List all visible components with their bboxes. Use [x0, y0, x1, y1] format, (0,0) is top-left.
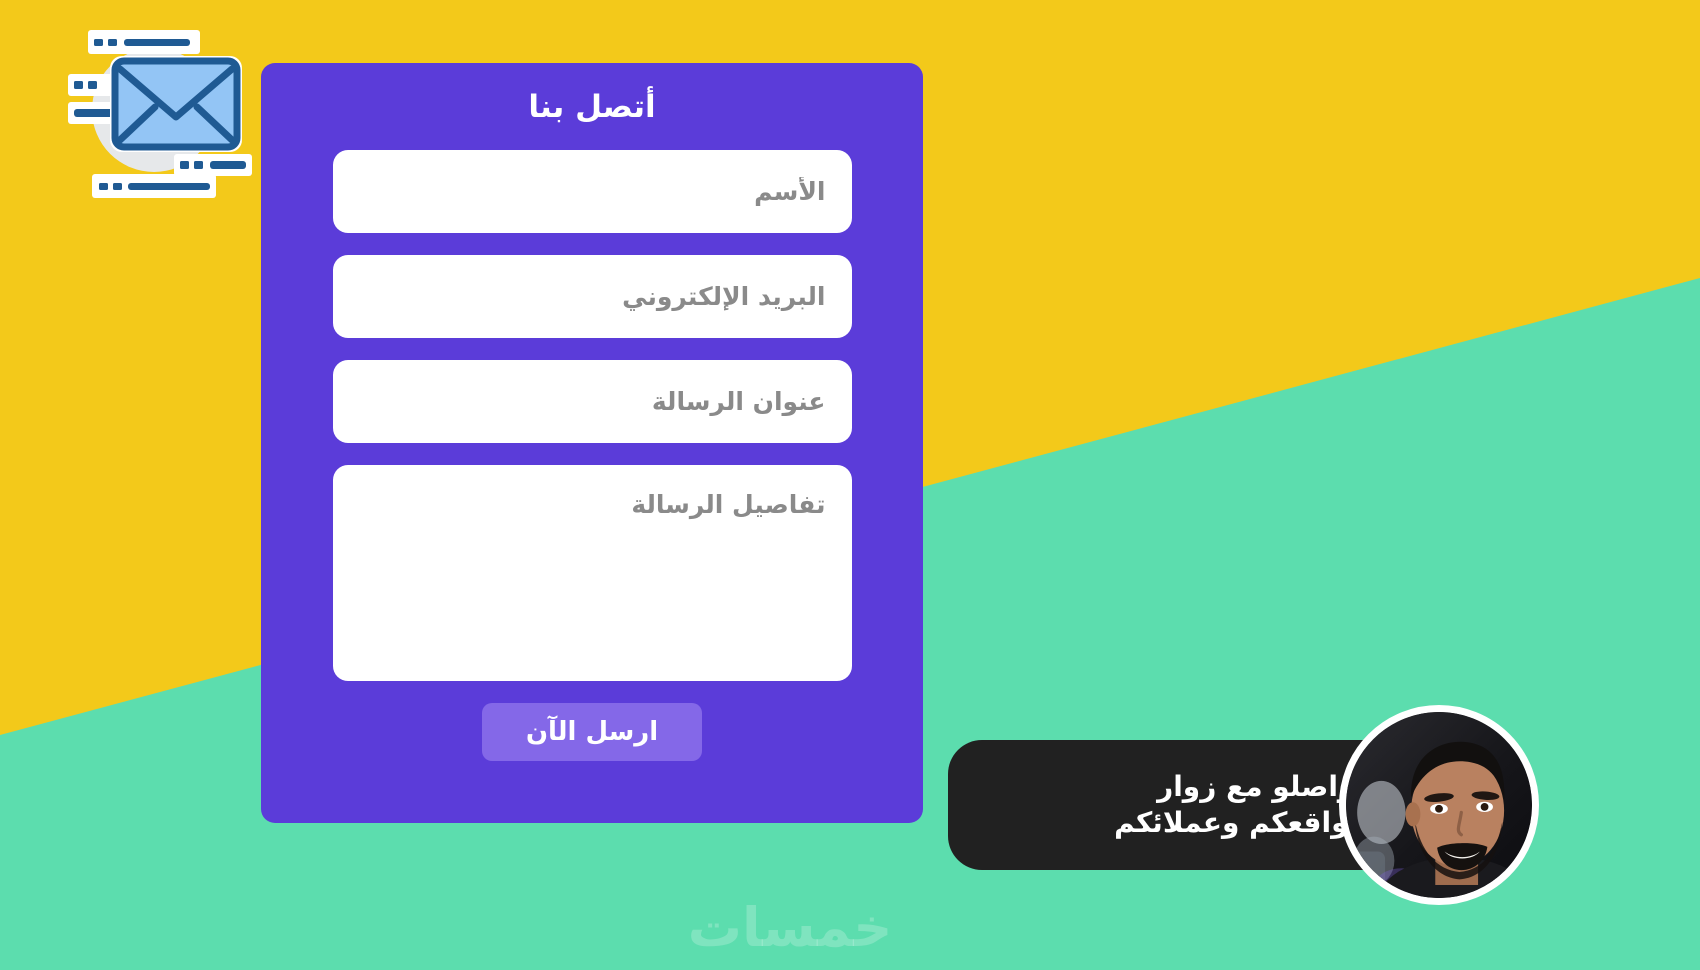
send-now-button[interactable]: ارسل الآن [482, 703, 702, 761]
avatar[interactable] [1339, 705, 1539, 905]
page-root: أتصل بنا ارسل الآن تواصلو مع زوار مواقعك… [0, 0, 1700, 970]
email-input[interactable] [333, 255, 852, 338]
page-title: أتصل بنا [261, 89, 923, 126]
field-wrap-message [333, 465, 852, 681]
message-textarea[interactable] [333, 465, 852, 681]
field-wrap-name [333, 150, 852, 233]
watermark: خمسات [620, 896, 960, 959]
contact-form-card: أتصل بنا ارسل الآن [261, 63, 923, 823]
promo-text: تواصلو مع زوار مواقعكم وعملائكم [948, 769, 1366, 841]
submit-row: ارسل الآن [261, 703, 923, 761]
subject-input[interactable] [333, 360, 852, 443]
name-input[interactable] [333, 150, 852, 233]
promo-line-1: تواصلو مع زوار [948, 769, 1366, 805]
field-wrap-email [333, 255, 852, 338]
field-wrap-subject [333, 360, 852, 443]
promo-line-2: مواقعكم وعملائكم [948, 805, 1366, 841]
envelope-mail-icon [62, 12, 252, 202]
